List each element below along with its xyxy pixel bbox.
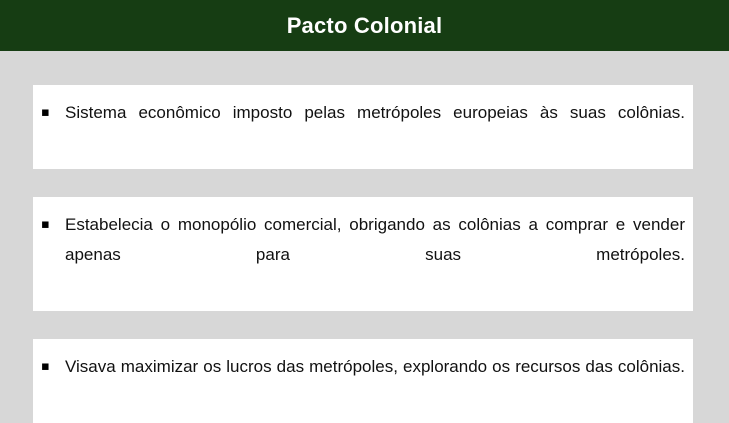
square-bullet-icon: ▪ <box>40 352 65 382</box>
list-item: ▪ Estabelecia o monopólio comercial, obr… <box>33 197 693 311</box>
list-item: ▪ Sistema econômico imposto pelas metróp… <box>33 85 693 169</box>
list-item-text: Estabelecia o monopólio comercial, obrig… <box>65 210 685 300</box>
page-title: Pacto Colonial <box>287 15 443 37</box>
square-bullet-icon: ▪ <box>40 210 65 240</box>
slide-root: Pacto Colonial ▪ Sistema econômico impos… <box>0 0 729 409</box>
list-item: ▪ Visava maximizar os lucros das metrópo… <box>33 339 693 423</box>
square-bullet-icon: ▪ <box>40 98 65 128</box>
bullet-list: ▪ Sistema econômico imposto pelas metróp… <box>0 51 729 409</box>
list-item-text: Visava maximizar os lucros das metrópole… <box>65 352 685 412</box>
list-item-text: Sistema econômico imposto pelas metrópol… <box>65 98 685 158</box>
slide-title-bar: Pacto Colonial <box>0 0 729 51</box>
